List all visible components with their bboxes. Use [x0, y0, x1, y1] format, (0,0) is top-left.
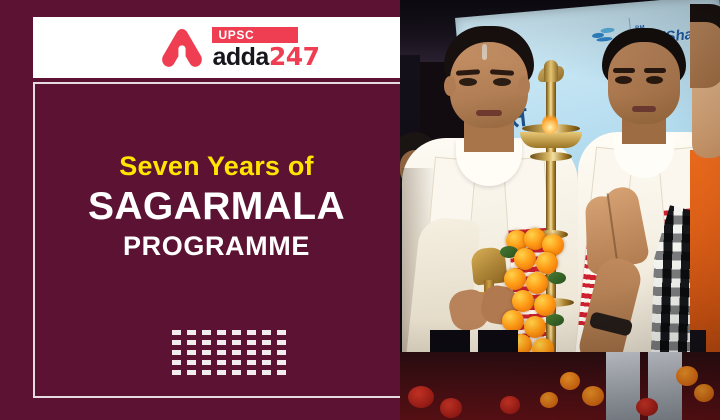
- dignitary-left-eye-left: [459, 78, 477, 86]
- dot-grid-dot: [232, 350, 241, 355]
- dot-grid-dot: [277, 360, 286, 365]
- headline-block: Seven Years of SAGARMALA PROGRAMME: [33, 150, 400, 262]
- dot-grid-dot: [202, 340, 211, 345]
- dot-grid-dot: [202, 330, 211, 335]
- trouser-left: [606, 352, 640, 420]
- dot-grid-dot: [172, 360, 181, 365]
- lamp-finial: [544, 60, 558, 82]
- dot-grid-dot: [262, 350, 271, 355]
- dot-grid-dot: [172, 370, 181, 375]
- adda247-wordmark: UPSC adda247: [212, 27, 319, 69]
- panel-bottom-bar: [0, 400, 400, 420]
- headline-line-3: PROGRAMME: [33, 230, 400, 262]
- lamp-flame: [542, 112, 558, 134]
- dot-grid-dot: [187, 340, 196, 345]
- dignitary-centre-mouth: [632, 106, 656, 112]
- dignitary-centre-brow-left: [613, 68, 635, 73]
- dot-grid-dot: [247, 370, 256, 375]
- dot-grid-dot: [247, 360, 256, 365]
- dot-grid-dot: [247, 330, 256, 335]
- dot-grid-dot: [232, 340, 241, 345]
- lamp-oil-bowl: [520, 132, 582, 148]
- dot-grid-dot: [172, 330, 181, 335]
- dot-grid-dot: [262, 340, 271, 345]
- dignitary-centre-brow-right: [644, 68, 666, 73]
- adda247-logo: UPSC adda247: [161, 27, 319, 69]
- dot-grid-dot: [232, 370, 241, 375]
- dot-grid-dot: [217, 370, 226, 375]
- dot-grid-dot: [187, 330, 196, 335]
- dot-grid-dot: [277, 350, 286, 355]
- dignitary-left-tilak: [482, 44, 487, 60]
- dot-grid-dot: [217, 350, 226, 355]
- lamp-plate-upper2: [530, 152, 572, 161]
- dignitary-left-mouth: [476, 110, 502, 116]
- dot-grid-dot: [262, 370, 271, 375]
- dot-grid-dot: [187, 360, 196, 365]
- dot-grid-dot: [187, 370, 196, 375]
- brand-number: 247: [269, 45, 320, 69]
- title-panel: UPSC adda247 Seven Years of SAGARMALA PR…: [0, 0, 400, 400]
- dignitary-left-ear-left: [444, 76, 456, 96]
- brand-row: adda247: [212, 45, 319, 69]
- poster-canvas: शक्ति PM GatiShakti: [0, 0, 720, 420]
- dot-grid-dot: [232, 330, 241, 335]
- headline-line-1: Seven Years of: [33, 150, 400, 182]
- dignitary-centre-eye-left: [615, 76, 632, 84]
- dot-grid-dot: [217, 360, 226, 365]
- dot-grid-dot: [202, 360, 211, 365]
- dot-grid-dot: [277, 330, 286, 335]
- dot-grid-dot: [202, 370, 211, 375]
- dot-grid-dot: [202, 350, 211, 355]
- adda247-triangle-icon: [161, 28, 203, 68]
- dot-grid-dot: [232, 360, 241, 365]
- dot-grid-decoration: [172, 330, 286, 375]
- brand-word: adda: [212, 45, 268, 69]
- logo-strip: UPSC adda247: [33, 17, 400, 78]
- dignitary-centre-eye-right: [646, 76, 663, 84]
- dot-grid-dot: [262, 360, 271, 365]
- dot-grid-dot: [217, 340, 226, 345]
- dot-grid-dot: [172, 350, 181, 355]
- dot-grid-dot: [277, 340, 286, 345]
- dot-grid-dot: [247, 340, 256, 345]
- dot-grid-dot: [277, 370, 286, 375]
- dot-grid-dot: [172, 340, 181, 345]
- upsc-badge: UPSC: [212, 27, 298, 43]
- dot-grid-dot: [187, 350, 196, 355]
- dignitary-left-eye-right: [493, 78, 511, 86]
- dignitary-far-right-face: [690, 22, 720, 88]
- headline-line-2: SAGARMALA: [33, 185, 400, 229]
- dot-grid-dot: [217, 330, 226, 335]
- dot-grid-dot: [262, 330, 271, 335]
- dot-grid-dot: [247, 350, 256, 355]
